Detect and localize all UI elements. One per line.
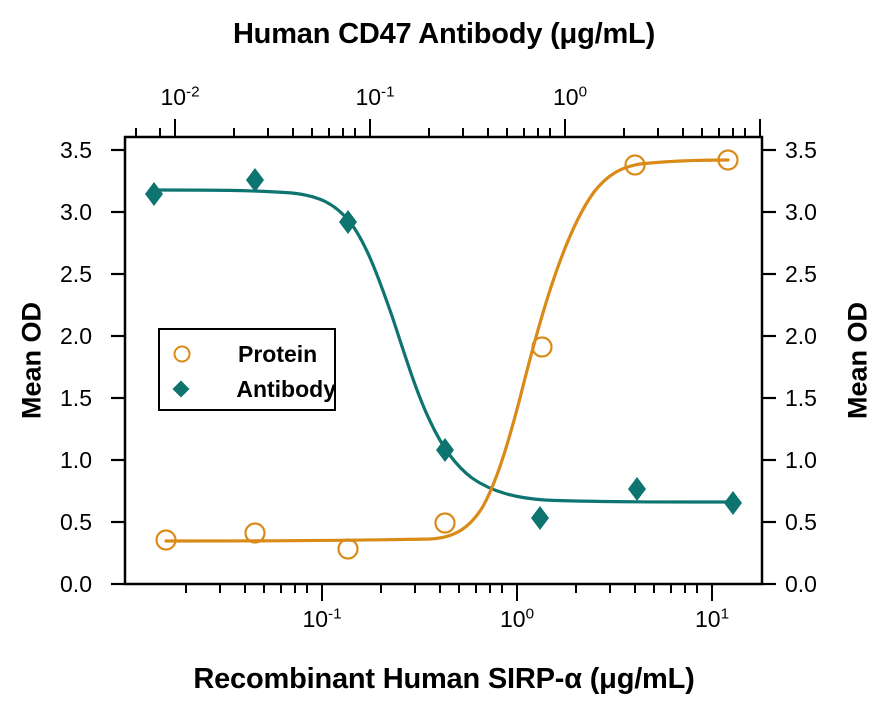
chart-legend: Protein Antibody (158, 328, 336, 411)
x-axis-ticks-bottom (186, 584, 712, 601)
legend-marker-filled-diamond-icon (162, 378, 200, 400)
legend-label-protein: Protein (238, 341, 317, 368)
antibody-point-1 (145, 182, 163, 206)
chart-bottom-title: Recombinant Human SIRP-α (μg/mL) (0, 663, 888, 696)
antibody-point-2 (246, 168, 264, 192)
protein-point-4 (436, 514, 455, 533)
plot-canvas (0, 0, 888, 722)
legend-item-protein: Protein (162, 339, 336, 369)
legend-item-antibody: Antibody (162, 374, 336, 404)
antibody-point-6 (628, 477, 646, 501)
antibody-point-5 (531, 506, 549, 530)
protein-point-5 (533, 338, 552, 357)
y-axis-ticks-left (111, 150, 125, 584)
x-axis-ticks-top (136, 119, 760, 137)
legend-marker-open-circle-icon (162, 343, 202, 365)
protein-point-3 (339, 540, 358, 559)
chart-figure: Human CD47 Antibody (μg/mL) Mean OD Mean… (0, 0, 888, 722)
y-axis-ticks-right (762, 150, 776, 584)
antibody-point-7 (724, 491, 742, 515)
legend-label-antibody: Antibody (236, 376, 336, 403)
